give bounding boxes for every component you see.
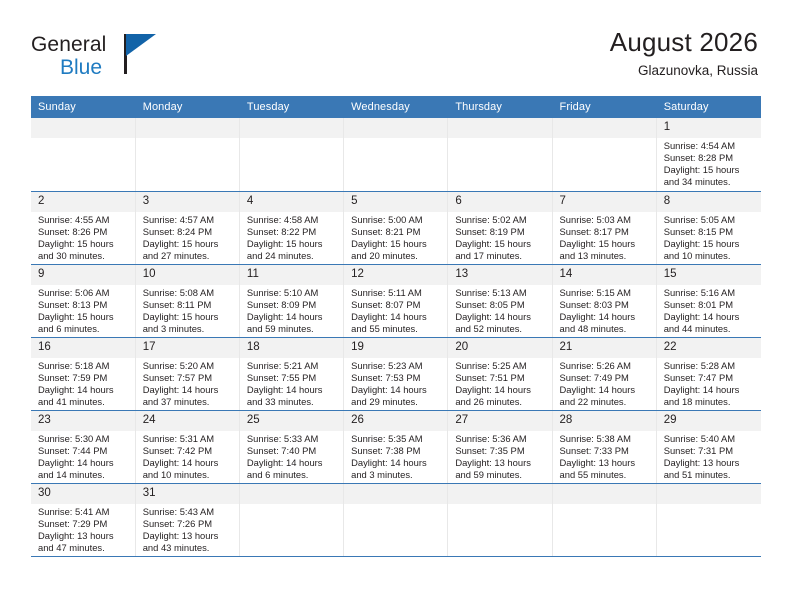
brand-logo[interactable]: General Blue xyxy=(31,28,181,84)
calendar-cell-day-22[interactable]: 22Sunrise: 5:28 AMSunset: 7:47 PMDayligh… xyxy=(656,337,760,410)
day-info-line: and 6 minutes. xyxy=(247,469,339,481)
day-sun-info: Sunrise: 5:05 AMSunset: 8:15 PMDaylight:… xyxy=(657,212,761,262)
day-sun-info: Sunrise: 5:31 AMSunset: 7:42 PMDaylight:… xyxy=(136,431,239,481)
calendar-cell-day-25[interactable]: 25Sunrise: 5:33 AMSunset: 7:40 PMDayligh… xyxy=(239,410,343,483)
day-number: 27 xyxy=(448,411,551,431)
day-sun-info: Sunrise: 5:25 AMSunset: 7:51 PMDaylight:… xyxy=(448,358,551,408)
day-sun-info: Sunrise: 5:35 AMSunset: 7:38 PMDaylight:… xyxy=(344,431,447,481)
calendar-cell-day-8[interactable]: 8Sunrise: 5:05 AMSunset: 8:15 PMDaylight… xyxy=(656,191,760,264)
day-info-line: Daylight: 15 hours xyxy=(664,238,757,250)
day-info-line: and 10 minutes. xyxy=(664,250,757,262)
day-info-line: Sunrise: 5:43 AM xyxy=(143,506,235,518)
calendar-cell-day-7[interactable]: 7Sunrise: 5:03 AMSunset: 8:17 PMDaylight… xyxy=(552,191,656,264)
calendar-cell-day-19[interactable]: 19Sunrise: 5:23 AMSunset: 7:53 PMDayligh… xyxy=(344,337,448,410)
day-number: 5 xyxy=(344,192,447,212)
day-info-line: and 52 minutes. xyxy=(455,323,547,335)
day-number: 25 xyxy=(240,411,343,431)
weekday-header-thursday: Thursday xyxy=(448,96,552,118)
day-sun-info: Sunrise: 5:16 AMSunset: 8:01 PMDaylight:… xyxy=(657,285,761,335)
calendar-cell-empty xyxy=(31,118,135,191)
day-info-line: Daylight: 14 hours xyxy=(143,384,235,396)
day-info-line: Sunrise: 5:25 AM xyxy=(455,360,547,372)
calendar-cell-empty xyxy=(239,483,343,556)
day-number xyxy=(448,118,551,138)
day-info-line: Sunset: 7:40 PM xyxy=(247,445,339,457)
day-info-line: and 3 minutes. xyxy=(351,469,443,481)
day-info-line: Sunrise: 5:30 AM xyxy=(38,433,131,445)
day-info-line: Sunrise: 5:03 AM xyxy=(560,214,652,226)
day-sun-info: Sunrise: 5:20 AMSunset: 7:57 PMDaylight:… xyxy=(136,358,239,408)
day-number: 4 xyxy=(240,192,343,212)
day-number xyxy=(553,484,656,504)
day-info-line: and 10 minutes. xyxy=(143,469,235,481)
day-number xyxy=(657,484,761,504)
calendar-cell-day-2[interactable]: 2Sunrise: 4:55 AMSunset: 8:26 PMDaylight… xyxy=(31,191,135,264)
calendar-cell-day-5[interactable]: 5Sunrise: 5:00 AMSunset: 8:21 PMDaylight… xyxy=(344,191,448,264)
day-sun-info: Sunrise: 4:57 AMSunset: 8:24 PMDaylight:… xyxy=(136,212,239,262)
triangle-logo-icon xyxy=(126,34,156,56)
day-info-line: and 47 minutes. xyxy=(38,542,131,554)
day-number xyxy=(553,118,656,138)
day-info-line: Sunset: 8:15 PM xyxy=(664,226,757,238)
day-info-line: Daylight: 14 hours xyxy=(560,311,652,323)
day-info-line: Daylight: 15 hours xyxy=(247,238,339,250)
day-number: 17 xyxy=(136,338,239,358)
calendar-cell-day-18[interactable]: 18Sunrise: 5:21 AMSunset: 7:55 PMDayligh… xyxy=(239,337,343,410)
calendar-cell-day-21[interactable]: 21Sunrise: 5:26 AMSunset: 7:49 PMDayligh… xyxy=(552,337,656,410)
day-number: 2 xyxy=(31,192,135,212)
day-info-line: Sunset: 7:57 PM xyxy=(143,372,235,384)
day-info-line: and 34 minutes. xyxy=(664,176,757,188)
day-info-line: and 41 minutes. xyxy=(38,396,131,408)
calendar-cell-day-3[interactable]: 3Sunrise: 4:57 AMSunset: 8:24 PMDaylight… xyxy=(135,191,239,264)
day-info-line: Daylight: 15 hours xyxy=(560,238,652,250)
day-number: 14 xyxy=(553,265,656,285)
day-info-line: Daylight: 14 hours xyxy=(455,384,547,396)
day-info-line: and 14 minutes. xyxy=(38,469,131,481)
day-sun-info: Sunrise: 5:38 AMSunset: 7:33 PMDaylight:… xyxy=(553,431,656,481)
day-info-line: Sunset: 7:59 PM xyxy=(38,372,131,384)
day-info-line: Sunset: 7:33 PM xyxy=(560,445,652,457)
day-number xyxy=(240,484,343,504)
calendar-cell-day-16[interactable]: 16Sunrise: 5:18 AMSunset: 7:59 PMDayligh… xyxy=(31,337,135,410)
weekday-header-row: SundayMondayTuesdayWednesdayThursdayFrid… xyxy=(31,96,761,118)
weekday-header-saturday: Saturday xyxy=(656,96,760,118)
day-info-line: Sunset: 7:51 PM xyxy=(455,372,547,384)
calendar-cell-day-14[interactable]: 14Sunrise: 5:15 AMSunset: 8:03 PMDayligh… xyxy=(552,264,656,337)
weekday-header-wednesday: Wednesday xyxy=(344,96,448,118)
calendar-week-row: 9Sunrise: 5:06 AMSunset: 8:13 PMDaylight… xyxy=(31,264,761,337)
day-number: 6 xyxy=(448,192,551,212)
day-info-line: Sunset: 8:09 PM xyxy=(247,299,339,311)
day-sun-info: Sunrise: 4:58 AMSunset: 8:22 PMDaylight:… xyxy=(240,212,343,262)
calendar-week-row: 30Sunrise: 5:41 AMSunset: 7:29 PMDayligh… xyxy=(31,483,761,556)
calendar-cell-day-17[interactable]: 17Sunrise: 5:20 AMSunset: 7:57 PMDayligh… xyxy=(135,337,239,410)
calendar-header-row: SundayMondayTuesdayWednesdayThursdayFrid… xyxy=(31,96,761,118)
day-info-line: and 20 minutes. xyxy=(351,250,443,262)
day-number: 26 xyxy=(344,411,447,431)
day-sun-info: Sunrise: 5:13 AMSunset: 8:05 PMDaylight:… xyxy=(448,285,551,335)
day-info-line: Daylight: 14 hours xyxy=(664,311,757,323)
day-number: 1 xyxy=(657,118,761,138)
day-info-line: Sunrise: 4:55 AM xyxy=(38,214,131,226)
day-sun-info: Sunrise: 5:18 AMSunset: 7:59 PMDaylight:… xyxy=(31,358,135,408)
day-number: 18 xyxy=(240,338,343,358)
day-info-line: and 55 minutes. xyxy=(560,469,652,481)
day-info-line: and 17 minutes. xyxy=(455,250,547,262)
day-info-line: and 43 minutes. xyxy=(143,542,235,554)
day-info-line: Sunrise: 4:58 AM xyxy=(247,214,339,226)
day-number: 12 xyxy=(344,265,447,285)
day-sun-info: Sunrise: 5:15 AMSunset: 8:03 PMDaylight:… xyxy=(553,285,656,335)
day-info-line: Daylight: 15 hours xyxy=(143,238,235,250)
day-info-line: Daylight: 15 hours xyxy=(664,164,757,176)
day-sun-info: Sunrise: 5:23 AMSunset: 7:53 PMDaylight:… xyxy=(344,358,447,408)
day-number xyxy=(448,484,551,504)
day-info-line: Sunrise: 5:36 AM xyxy=(455,433,547,445)
day-info-line: Sunrise: 5:00 AM xyxy=(351,214,443,226)
weekday-header-monday: Monday xyxy=(135,96,239,118)
day-info-line: Sunrise: 5:35 AM xyxy=(351,433,443,445)
day-info-line: and 27 minutes. xyxy=(143,250,235,262)
calendar-cell-day-31[interactable]: 31Sunrise: 5:43 AMSunset: 7:26 PMDayligh… xyxy=(135,483,239,556)
day-info-line: Sunset: 8:13 PM xyxy=(38,299,131,311)
calendar-cell-day-6[interactable]: 6Sunrise: 5:02 AMSunset: 8:19 PMDaylight… xyxy=(448,191,552,264)
day-info-line: Daylight: 14 hours xyxy=(38,384,131,396)
day-info-line: Sunset: 8:28 PM xyxy=(664,152,757,164)
day-info-line: Daylight: 14 hours xyxy=(664,384,757,396)
day-info-line: Sunrise: 5:10 AM xyxy=(247,287,339,299)
day-info-line: Sunset: 7:42 PM xyxy=(143,445,235,457)
day-info-line: and 6 minutes. xyxy=(38,323,131,335)
day-number: 30 xyxy=(31,484,135,504)
day-info-line: Daylight: 14 hours xyxy=(351,457,443,469)
day-number: 21 xyxy=(553,338,656,358)
day-info-line: Sunset: 8:21 PM xyxy=(351,226,443,238)
day-info-line: Sunset: 8:17 PM xyxy=(560,226,652,238)
calendar-cell-day-28[interactable]: 28Sunrise: 5:38 AMSunset: 7:33 PMDayligh… xyxy=(552,410,656,483)
day-info-line: Sunrise: 5:15 AM xyxy=(560,287,652,299)
calendar-cell-empty xyxy=(448,118,552,191)
day-info-line: Sunset: 8:03 PM xyxy=(560,299,652,311)
calendar-cell-day-13[interactable]: 13Sunrise: 5:13 AMSunset: 8:05 PMDayligh… xyxy=(448,264,552,337)
day-info-line: Sunrise: 5:16 AM xyxy=(664,287,757,299)
day-sun-info: Sunrise: 5:00 AMSunset: 8:21 PMDaylight:… xyxy=(344,212,447,262)
calendar-week-row: 2Sunrise: 4:55 AMSunset: 8:26 PMDaylight… xyxy=(31,191,761,264)
day-info-line: and 18 minutes. xyxy=(664,396,757,408)
calendar-cell-day-4[interactable]: 4Sunrise: 4:58 AMSunset: 8:22 PMDaylight… xyxy=(239,191,343,264)
calendar-cell-day-27[interactable]: 27Sunrise: 5:36 AMSunset: 7:35 PMDayligh… xyxy=(448,410,552,483)
day-info-line: Sunset: 7:26 PM xyxy=(143,518,235,530)
day-info-line: and 24 minutes. xyxy=(247,250,339,262)
title-block: August 2026 Glazunovka, Russia xyxy=(610,28,758,78)
day-info-line: and 22 minutes. xyxy=(560,396,652,408)
day-info-line: Sunset: 7:44 PM xyxy=(38,445,131,457)
calendar-cell-day-30[interactable]: 30Sunrise: 5:41 AMSunset: 7:29 PMDayligh… xyxy=(31,483,135,556)
day-info-line: Sunset: 7:55 PM xyxy=(247,372,339,384)
day-info-line: Sunset: 8:26 PM xyxy=(38,226,131,238)
day-info-line: Daylight: 14 hours xyxy=(247,384,339,396)
day-number xyxy=(344,484,447,504)
day-info-line: Sunrise: 5:05 AM xyxy=(664,214,757,226)
day-info-line: Sunset: 7:29 PM xyxy=(38,518,131,530)
day-sun-info: Sunrise: 5:28 AMSunset: 7:47 PMDaylight:… xyxy=(657,358,761,408)
day-info-line: Sunrise: 5:40 AM xyxy=(664,433,757,445)
day-info-line: Sunset: 7:49 PM xyxy=(560,372,652,384)
day-info-line: Daylight: 13 hours xyxy=(38,530,131,542)
day-info-line: Daylight: 13 hours xyxy=(143,530,235,542)
day-info-line: Sunrise: 5:31 AM xyxy=(143,433,235,445)
day-info-line: Daylight: 14 hours xyxy=(351,311,443,323)
day-info-line: Daylight: 14 hours xyxy=(247,457,339,469)
day-info-line: Sunset: 7:53 PM xyxy=(351,372,443,384)
day-sun-info: Sunrise: 4:55 AMSunset: 8:26 PMDaylight:… xyxy=(31,212,135,262)
day-info-line: Daylight: 13 hours xyxy=(560,457,652,469)
day-info-line: and 26 minutes. xyxy=(455,396,547,408)
day-info-line: Sunrise: 5:20 AM xyxy=(143,360,235,372)
day-info-line: Sunrise: 5:21 AM xyxy=(247,360,339,372)
calendar-cell-day-15[interactable]: 15Sunrise: 5:16 AMSunset: 8:01 PMDayligh… xyxy=(656,264,760,337)
day-number: 13 xyxy=(448,265,551,285)
day-info-line: Sunrise: 5:11 AM xyxy=(351,287,443,299)
calendar-cell-empty xyxy=(552,118,656,191)
day-info-line: Sunrise: 5:33 AM xyxy=(247,433,339,445)
day-number: 9 xyxy=(31,265,135,285)
day-info-line: and 55 minutes. xyxy=(351,323,443,335)
day-sun-info: Sunrise: 5:03 AMSunset: 8:17 PMDaylight:… xyxy=(553,212,656,262)
calendar-cell-day-9[interactable]: 9Sunrise: 5:06 AMSunset: 8:13 PMDaylight… xyxy=(31,264,135,337)
calendar-cell-day-24[interactable]: 24Sunrise: 5:31 AMSunset: 7:42 PMDayligh… xyxy=(135,410,239,483)
calendar-cell-empty xyxy=(656,483,760,556)
page-header: General Blue August 2026 Glazunovka, Rus… xyxy=(0,0,792,84)
day-number: 28 xyxy=(553,411,656,431)
day-sun-info: Sunrise: 5:08 AMSunset: 8:11 PMDaylight:… xyxy=(136,285,239,335)
calendar-week-row: 1Sunrise: 4:54 AMSunset: 8:28 PMDaylight… xyxy=(31,118,761,191)
day-sun-info: Sunrise: 5:36 AMSunset: 7:35 PMDaylight:… xyxy=(448,431,551,481)
day-info-line: and 48 minutes. xyxy=(560,323,652,335)
day-info-line: Sunset: 8:01 PM xyxy=(664,299,757,311)
day-info-line: Sunset: 8:19 PM xyxy=(455,226,547,238)
day-info-line: Sunset: 7:38 PM xyxy=(351,445,443,457)
day-info-line: Daylight: 13 hours xyxy=(455,457,547,469)
day-sun-info: Sunrise: 4:54 AMSunset: 8:28 PMDaylight:… xyxy=(657,138,761,188)
brand-name-blue: Blue xyxy=(60,57,181,78)
day-number: 29 xyxy=(657,411,761,431)
day-info-line: Sunrise: 5:08 AM xyxy=(143,287,235,299)
calendar-cell-empty xyxy=(135,118,239,191)
calendar-cell-empty xyxy=(344,118,448,191)
day-info-line: and 59 minutes. xyxy=(455,469,547,481)
day-number: 10 xyxy=(136,265,239,285)
day-info-line: and 30 minutes. xyxy=(38,250,131,262)
day-info-line: Sunset: 8:24 PM xyxy=(143,226,235,238)
day-number: 3 xyxy=(136,192,239,212)
day-info-line: Daylight: 14 hours xyxy=(455,311,547,323)
calendar-cell-day-12[interactable]: 12Sunrise: 5:11 AMSunset: 8:07 PMDayligh… xyxy=(344,264,448,337)
day-info-line: Sunset: 8:05 PM xyxy=(455,299,547,311)
day-info-line: Sunrise: 5:02 AM xyxy=(455,214,547,226)
weekday-header-friday: Friday xyxy=(552,96,656,118)
day-info-line: Daylight: 13 hours xyxy=(664,457,757,469)
day-info-line: Sunrise: 5:28 AM xyxy=(664,360,757,372)
day-sun-info: Sunrise: 5:43 AMSunset: 7:26 PMDaylight:… xyxy=(136,504,239,554)
day-number: 11 xyxy=(240,265,343,285)
day-sun-info: Sunrise: 5:06 AMSunset: 8:13 PMDaylight:… xyxy=(31,285,135,335)
day-number: 16 xyxy=(31,338,135,358)
day-info-line: Sunset: 8:22 PM xyxy=(247,226,339,238)
day-sun-info: Sunrise: 5:30 AMSunset: 7:44 PMDaylight:… xyxy=(31,431,135,481)
day-info-line: Sunset: 8:07 PM xyxy=(351,299,443,311)
day-number: 15 xyxy=(657,265,761,285)
day-info-line: Sunrise: 5:41 AM xyxy=(38,506,131,518)
day-sun-info: Sunrise: 5:26 AMSunset: 7:49 PMDaylight:… xyxy=(553,358,656,408)
calendar-cell-empty xyxy=(552,483,656,556)
day-info-line: Sunrise: 5:13 AM xyxy=(455,287,547,299)
day-number: 8 xyxy=(657,192,761,212)
calendar-cell-day-29[interactable]: 29Sunrise: 5:40 AMSunset: 7:31 PMDayligh… xyxy=(656,410,760,483)
calendar-cell-day-26[interactable]: 26Sunrise: 5:35 AMSunset: 7:38 PMDayligh… xyxy=(344,410,448,483)
day-info-line: Sunrise: 5:38 AM xyxy=(560,433,652,445)
day-info-line: Sunrise: 5:18 AM xyxy=(38,360,131,372)
day-number xyxy=(136,118,239,138)
calendar-page: General Blue August 2026 Glazunovka, Rus… xyxy=(0,0,792,612)
calendar-week-row: 16Sunrise: 5:18 AMSunset: 7:59 PMDayligh… xyxy=(31,337,761,410)
day-info-line: and 13 minutes. xyxy=(560,250,652,262)
day-info-line: Daylight: 15 hours xyxy=(38,311,131,323)
day-number: 24 xyxy=(136,411,239,431)
day-info-line: Daylight: 14 hours xyxy=(560,384,652,396)
day-sun-info: Sunrise: 5:21 AMSunset: 7:55 PMDaylight:… xyxy=(240,358,343,408)
day-number xyxy=(240,118,343,138)
day-info-line: Sunrise: 5:23 AM xyxy=(351,360,443,372)
page-title: August 2026 xyxy=(610,28,758,57)
day-number: 20 xyxy=(448,338,551,358)
day-info-line: Daylight: 14 hours xyxy=(351,384,443,396)
day-sun-info: Sunrise: 5:33 AMSunset: 7:40 PMDaylight:… xyxy=(240,431,343,481)
day-info-line: Daylight: 14 hours xyxy=(38,457,131,469)
calendar-cell-day-10[interactable]: 10Sunrise: 5:08 AMSunset: 8:11 PMDayligh… xyxy=(135,264,239,337)
day-sun-info: Sunrise: 5:10 AMSunset: 8:09 PMDaylight:… xyxy=(240,285,343,335)
day-info-line: Sunset: 8:11 PM xyxy=(143,299,235,311)
day-number: 22 xyxy=(657,338,761,358)
day-info-line: and 29 minutes. xyxy=(351,396,443,408)
day-number: 7 xyxy=(553,192,656,212)
day-sun-info: Sunrise: 5:40 AMSunset: 7:31 PMDaylight:… xyxy=(657,431,761,481)
day-info-line: Daylight: 15 hours xyxy=(455,238,547,250)
page-subtitle: Glazunovka, Russia xyxy=(610,64,758,79)
calendar-cell-day-1[interactable]: 1Sunrise: 4:54 AMSunset: 8:28 PMDaylight… xyxy=(656,118,760,191)
day-info-line: Daylight: 14 hours xyxy=(247,311,339,323)
day-number: 19 xyxy=(344,338,447,358)
calendar-table: SundayMondayTuesdayWednesdayThursdayFrid… xyxy=(31,96,761,557)
day-info-line: Sunset: 7:31 PM xyxy=(664,445,757,457)
day-info-line: Daylight: 14 hours xyxy=(143,457,235,469)
day-sun-info: Sunrise: 5:41 AMSunset: 7:29 PMDaylight:… xyxy=(31,504,135,554)
weekday-header-tuesday: Tuesday xyxy=(239,96,343,118)
day-number: 23 xyxy=(31,411,135,431)
day-info-line: and 59 minutes. xyxy=(247,323,339,335)
brand-name-general: General xyxy=(31,34,181,55)
calendar-cell-empty xyxy=(448,483,552,556)
day-info-line: and 33 minutes. xyxy=(247,396,339,408)
day-info-line: Sunset: 7:47 PM xyxy=(664,372,757,384)
calendar-body: 1Sunrise: 4:54 AMSunset: 8:28 PMDaylight… xyxy=(31,118,761,556)
day-sun-info: Sunrise: 5:02 AMSunset: 8:19 PMDaylight:… xyxy=(448,212,551,262)
day-number xyxy=(31,118,135,138)
calendar-week-row: 23Sunrise: 5:30 AMSunset: 7:44 PMDayligh… xyxy=(31,410,761,483)
day-info-line: Sunset: 7:35 PM xyxy=(455,445,547,457)
day-info-line: Daylight: 15 hours xyxy=(38,238,131,250)
day-number xyxy=(344,118,447,138)
day-info-line: Sunrise: 5:26 AM xyxy=(560,360,652,372)
calendar-cell-empty xyxy=(239,118,343,191)
day-info-line: Sunrise: 4:54 AM xyxy=(664,140,757,152)
day-info-line: Daylight: 15 hours xyxy=(143,311,235,323)
calendar-cell-day-20[interactable]: 20Sunrise: 5:25 AMSunset: 7:51 PMDayligh… xyxy=(448,337,552,410)
calendar-cell-day-11[interactable]: 11Sunrise: 5:10 AMSunset: 8:09 PMDayligh… xyxy=(239,264,343,337)
day-sun-info: Sunrise: 5:11 AMSunset: 8:07 PMDaylight:… xyxy=(344,285,447,335)
day-info-line: Daylight: 15 hours xyxy=(351,238,443,250)
day-info-line: and 44 minutes. xyxy=(664,323,757,335)
calendar-cell-day-23[interactable]: 23Sunrise: 5:30 AMSunset: 7:44 PMDayligh… xyxy=(31,410,135,483)
day-info-line: and 37 minutes. xyxy=(143,396,235,408)
day-info-line: and 51 minutes. xyxy=(664,469,757,481)
day-number: 31 xyxy=(136,484,239,504)
calendar-cell-empty xyxy=(344,483,448,556)
day-info-line: and 3 minutes. xyxy=(143,323,235,335)
day-info-line: Sunrise: 4:57 AM xyxy=(143,214,235,226)
weekday-header-sunday: Sunday xyxy=(31,96,135,118)
day-info-line: Sunrise: 5:06 AM xyxy=(38,287,131,299)
